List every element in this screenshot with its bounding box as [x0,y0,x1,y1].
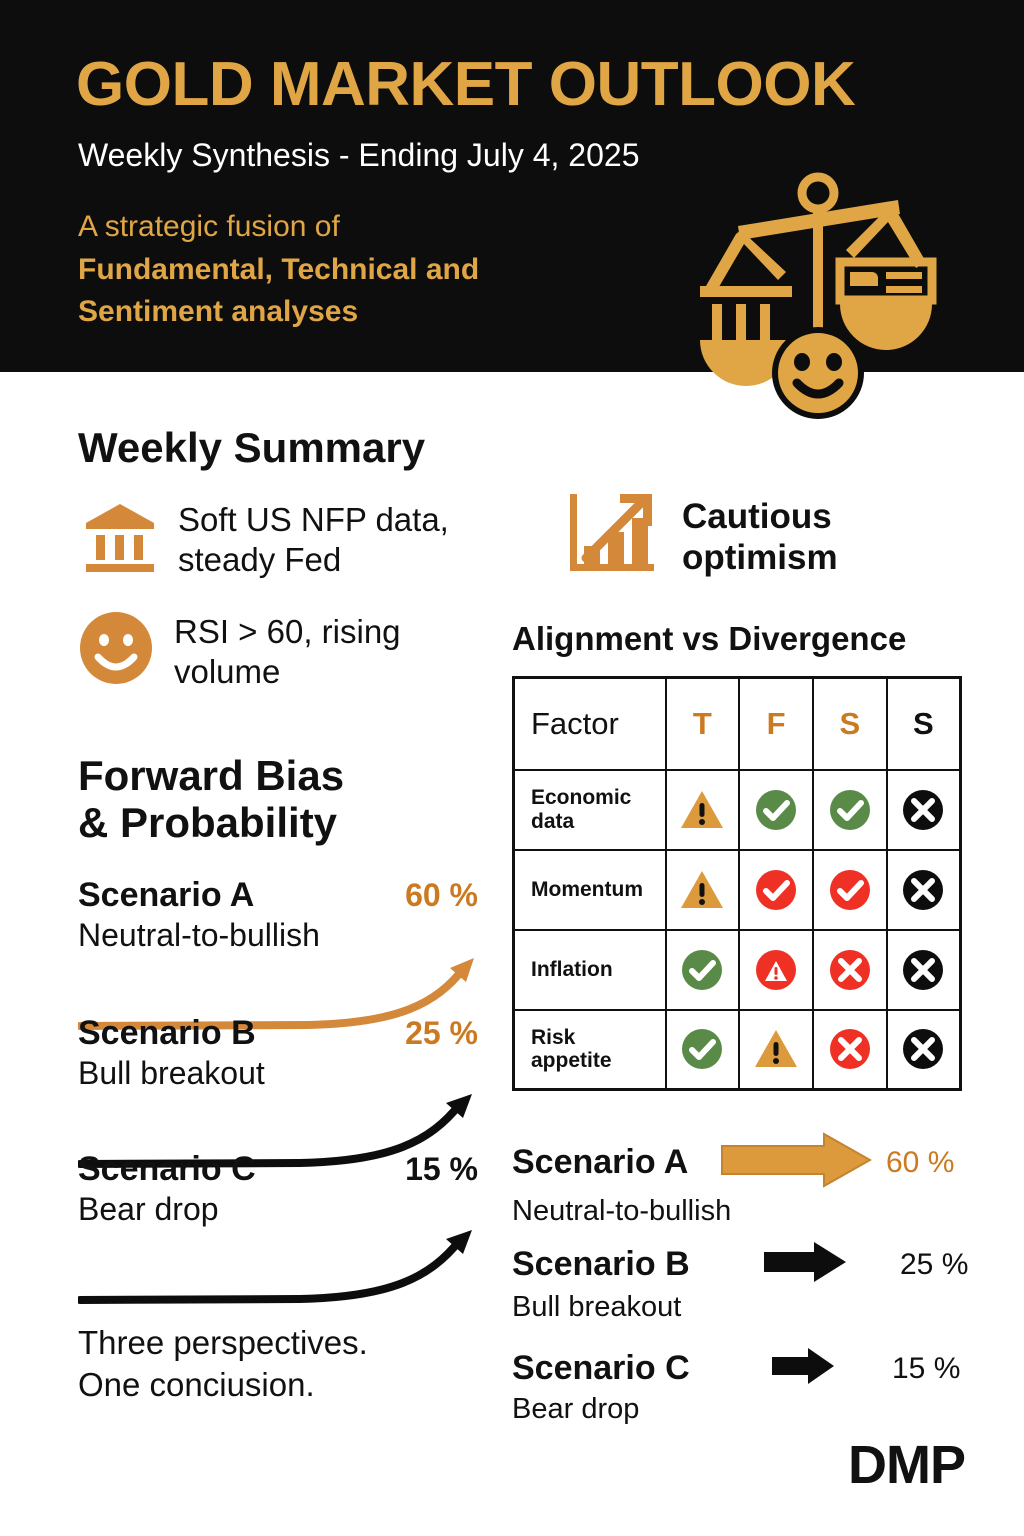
brand-logo: DMP [848,1434,965,1496]
row-label-inflation: Inflation [514,930,666,1010]
warning-triangle-orange-icon [754,1027,798,1071]
cross-circle-black-icon [901,948,945,992]
summary-nfp-line1: Soft US NFP data, [178,501,449,538]
check-circle-red-icon [828,868,872,912]
column-header-f: F [739,678,813,770]
curved-arrow-up-black-icon [78,1228,478,1308]
row-label-line1: Economic [531,786,631,809]
warning-triangle-orange-icon [680,868,724,912]
check-circle-green-icon [680,948,724,992]
check-circle-green-icon [754,788,798,832]
summary-item-rsi-text: RSI > 60, rising volume [174,610,401,693]
cross-circle-red-icon [828,1027,872,1071]
cell-risk-t [666,1010,740,1090]
summary-scenario-c: Scenario C 15 % Bear drop [512,1346,982,1426]
cell-inflation-f [739,930,813,1010]
summary-scenario-a-row: Scenario A 60 % [512,1132,982,1193]
warning-circle-red-icon [754,948,798,992]
summary-scenario-a-name: Scenario A [512,1143,720,1182]
forward-scenario-a-name: Scenario A [78,876,254,915]
forward-scenario-c-desc: Bear drop [78,1191,478,1228]
row-label-momentum: Momentum [514,850,666,930]
cell-economic-s2 [887,770,961,850]
row-label-line2: appetite [531,1049,612,1072]
cell-economic-s1 [813,770,887,850]
check-circle-green-icon [680,1027,724,1071]
forward-scenario-b-head: Scenario B 25 % [78,1014,478,1053]
forward-scenario-c-name: Scenario C [78,1150,256,1189]
cautious-optimism-callout: Cautious optimism [564,486,838,582]
summary-scenario-a-desc: Neutral-to-bullish [512,1195,982,1228]
summary-item-nfp: Soft US NFP data, steady Fed [82,498,522,581]
cell-inflation-s1 [813,930,887,1010]
cross-circle-black-icon [901,1027,945,1071]
row-label-line1: Risk [531,1026,575,1049]
header-tagline: A strategic fusion of Fundamental, Techn… [78,206,479,334]
cell-momentum-s1 [813,850,887,930]
smiley-face-icon [78,610,154,686]
summary-scenario-a-percent: 60 % [886,1146,954,1180]
row-label-risk-appetite: Risk appetite [514,1010,666,1090]
right-arrow-gold-large-icon [720,1132,872,1193]
column-header-s2: S [887,678,961,770]
table-row: Economic data [514,770,961,850]
smiley-pendant-icon [775,330,861,416]
cell-economic-f [739,770,813,850]
alignment-table: Factor T F S S Economic data [512,676,962,1091]
cell-momentum-t [666,850,740,930]
summary-scenario-b: Scenario B 25 % Bull breakout [512,1240,982,1324]
closing-tagline-line1: Three perspectives. [78,1322,368,1364]
cross-circle-black-icon [901,788,945,832]
forward-scenario-a: Scenario A 60 % Neutral-to-bullish [78,876,478,954]
forward-scenario-c-percent: 15 % [405,1151,478,1188]
table-row: Momentum [514,850,961,930]
forward-scenario-b: Scenario B 25 % Bull breakout [78,1014,478,1092]
cross-circle-red-icon [828,948,872,992]
bank-icon [82,498,158,574]
summary-nfp-line2: steady Fed [178,541,341,578]
bar-chart-up-icon [564,486,660,582]
summary-scenario-b-desc: Bull breakout [512,1291,982,1324]
right-arrow-black-medium-icon [762,1240,848,1289]
table-header-row: Factor T F S S [514,678,961,770]
summary-scenario-c-row: Scenario C 15 % [512,1346,982,1391]
summary-scenario-b-name: Scenario B [512,1245,762,1284]
forward-bias-heading-line1: Forward Bias [78,752,344,799]
forward-scenario-b-desc: Bull breakout [78,1055,478,1092]
column-header-t: T [666,678,740,770]
warning-triangle-orange-icon [680,788,724,832]
row-label-line1: Momentum [531,878,643,901]
closing-tagline-line2: One conciusion. [78,1364,368,1406]
column-header-factor: Factor [514,678,666,770]
check-circle-green-icon [828,788,872,832]
cell-economic-t [666,770,740,850]
summary-scenario-c-percent: 15 % [892,1352,960,1386]
weekly-summary-heading: Weekly Summary [78,424,425,472]
cell-inflation-s2 [887,930,961,1010]
cautious-optimism-label: Cautious optimism [682,486,838,579]
column-header-s1: S [813,678,887,770]
summary-item-rsi: RSI > 60, rising volume [78,610,518,693]
cell-momentum-f [739,850,813,930]
cell-risk-f [739,1010,813,1090]
forward-scenario-a-percent: 60 % [405,877,478,914]
forward-scenario-a-desc: Neutral-to-bullish [78,917,478,954]
cautious-line2: optimism [682,538,838,577]
cell-risk-s1 [813,1010,887,1090]
forward-scenario-b-percent: 25 % [405,1015,478,1052]
closing-tagline: Three perspectives. One conciusion. [78,1322,368,1406]
table-row: Risk appetite [514,1010,961,1090]
forward-scenario-b-name: Scenario B [78,1014,256,1053]
cross-circle-black-icon [901,868,945,912]
header-tagline-line2: Fundamental, Technical and [78,249,479,292]
table-row: Inflation [514,930,961,1010]
summary-scenario-b-percent: 25 % [900,1248,968,1282]
infographic-page: GOLD MARKET OUTLOOK Weekly Synthesis - E… [0,0,1024,1536]
summary-scenario-b-row: Scenario B 25 % [512,1240,982,1289]
check-circle-red-icon [754,868,798,912]
header-subtitle: Weekly Synthesis - Ending July 4, 2025 [78,136,639,174]
cell-momentum-s2 [887,850,961,930]
page-title: GOLD MARKET OUTLOOK [76,52,855,117]
forward-bias-heading: Forward Bias & Probability [78,752,344,846]
header-tagline-line1: A strategic fusion of [78,206,479,249]
balance-scale-icon [700,168,950,408]
header-banner: GOLD MARKET OUTLOOK Weekly Synthesis - E… [0,0,1024,372]
forward-bias-heading-line2: & Probability [78,799,344,846]
summary-rsi-line1: RSI > 60, rising [174,613,401,650]
cell-risk-s2 [887,1010,961,1090]
forward-scenario-c: Scenario C 15 % Bear drop [78,1150,478,1228]
header-tagline-line3: Sentiment analyses [78,291,479,334]
row-label-economic-data: Economic data [514,770,666,850]
alignment-heading: Alignment vs Divergence [512,620,906,658]
summary-scenario-c-name: Scenario C [512,1349,770,1388]
cautious-line1: Cautious [682,497,832,536]
summary-scenario-a: Scenario A 60 % Neutral-to-bullish [512,1132,982,1228]
forward-scenario-a-head: Scenario A 60 % [78,876,478,915]
summary-rsi-line2: volume [174,653,280,690]
row-label-line1: Inflation [531,958,613,981]
row-label-line2: data [531,810,574,833]
forward-scenario-c-head: Scenario C 15 % [78,1150,478,1189]
cell-inflation-t [666,930,740,1010]
summary-item-nfp-text: Soft US NFP data, steady Fed [178,498,449,581]
summary-scenario-c-desc: Bear drop [512,1393,982,1426]
right-arrow-black-small-icon [770,1346,836,1391]
